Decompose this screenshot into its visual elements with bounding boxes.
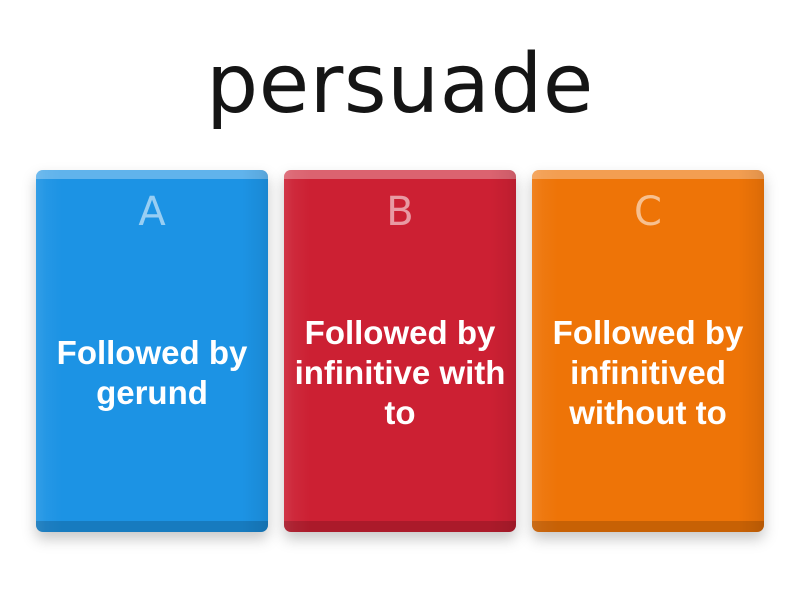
answer-card-a[interactable]: A Followed by gerund [36,170,268,532]
answer-options-row: A Followed by gerund B Followed by infin… [0,170,800,545]
page-title: persuade [206,44,594,126]
quiz-stage: persuade A Followed by gerund B Followed… [0,0,800,600]
prompt-row: persuade [0,0,800,170]
answer-letter-a: A [138,192,165,232]
answer-letter-c: C [634,192,662,232]
answer-text-b: Followed by infinitive with to [294,313,506,434]
answer-card-c[interactable]: C Followed by infinitived without to [532,170,764,532]
answer-body-c: Followed by infinitived without to [532,232,764,532]
answer-letter-b: B [386,192,413,232]
answer-card-b[interactable]: B Followed by infinitive with to [284,170,516,532]
answer-body-a: Followed by gerund [36,232,268,532]
answer-body-b: Followed by infinitive with to [284,232,516,532]
answer-text-a: Followed by gerund [46,333,258,414]
answer-text-c: Followed by infinitived without to [542,313,754,434]
